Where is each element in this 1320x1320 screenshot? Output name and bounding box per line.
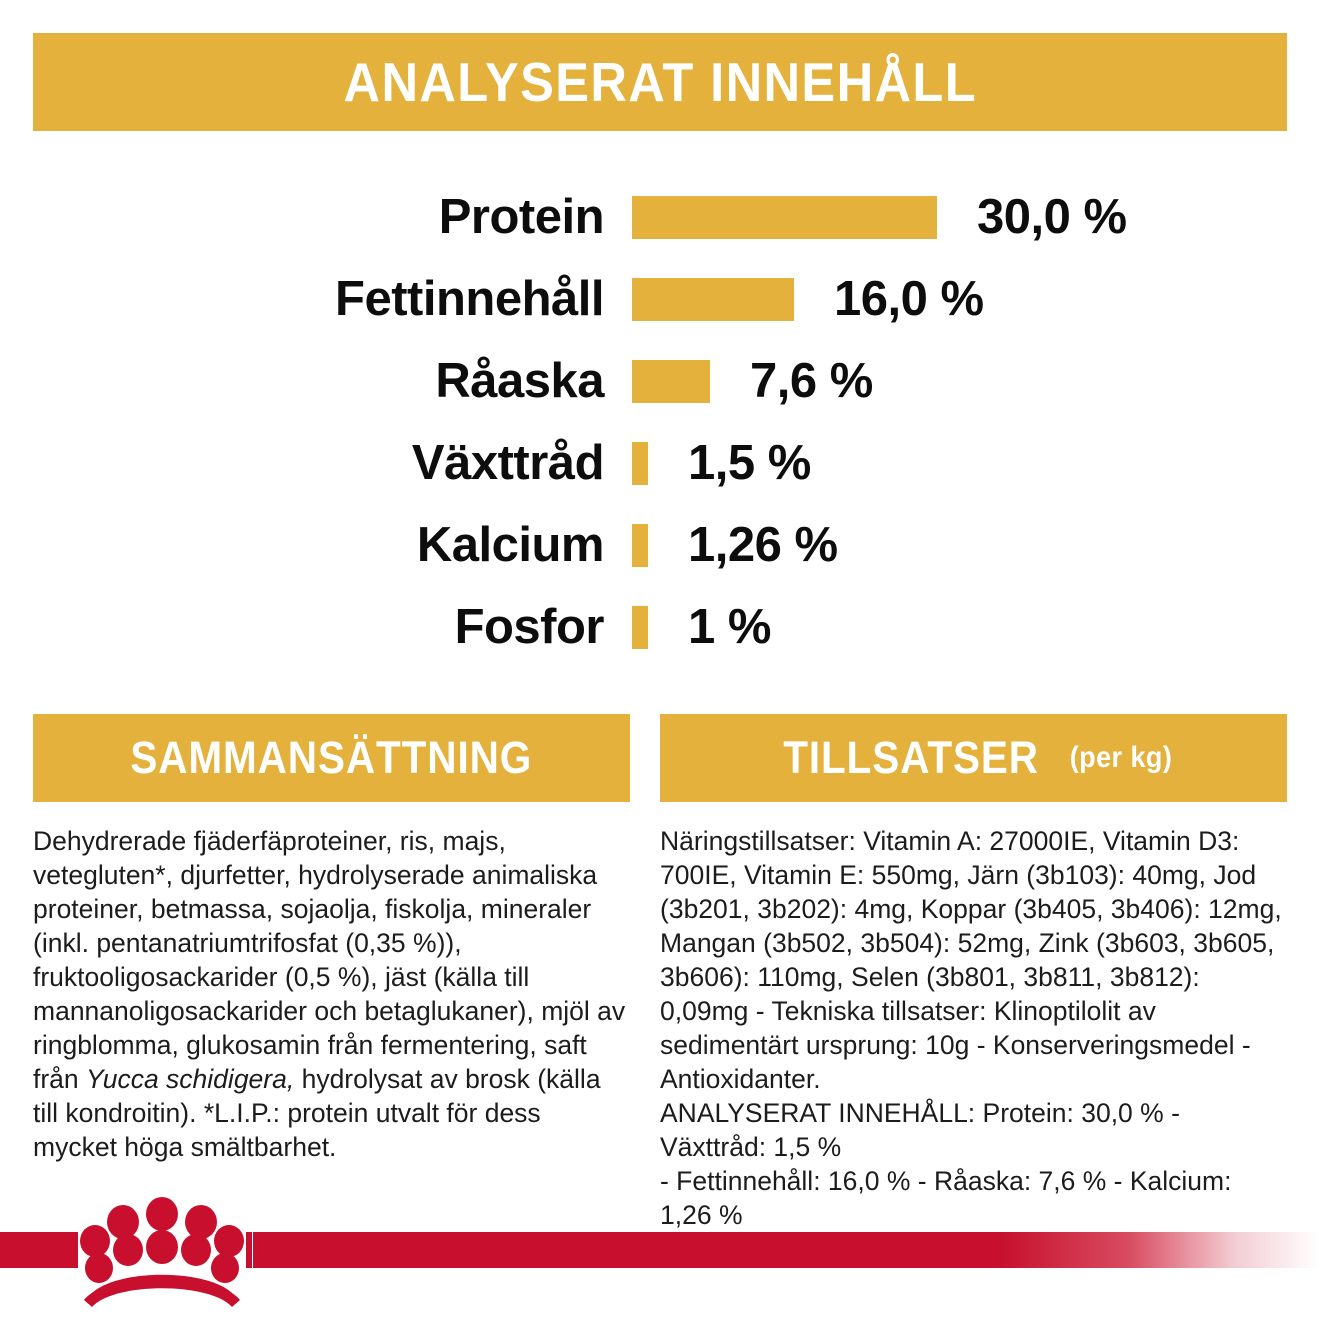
analysed-content-banner: ANALYSERAT INNEHÅLL [33, 33, 1287, 131]
crown-icon [78, 1192, 246, 1310]
composition-body: Dehydrerade fjäderfäproteiner, ris, majs… [33, 824, 630, 1164]
footer [0, 1182, 1320, 1320]
nutrient-value-fat: 16,0 % [834, 271, 984, 327]
composition-paragraph: Dehydrerade fjäderfäproteiner, ris, majs… [33, 824, 630, 1164]
nutrient-value-protein: 30,0 % [977, 189, 1127, 245]
nutrient-label-crude-fibre: Växttråd [0, 435, 632, 491]
table-row: Fosfor 1 % [0, 586, 1320, 668]
composition-text-italic: Yucca schidigera, [86, 1064, 294, 1094]
analysed-content-chart: Protein 30,0 % Fettinnehåll 16,0 % Råask… [0, 176, 1320, 668]
additives-analysis-line-1: ANALYSERAT INNEHÅLL: Protein: 30,0 % - V… [660, 1096, 1287, 1164]
bar-calcium [632, 524, 648, 567]
nutrient-label-phosphorus: Fosfor [0, 599, 632, 655]
table-row: Växttråd 1,5 % [0, 422, 1320, 504]
footer-rule-right [253, 1232, 1320, 1268]
composition-header: SAMMANSÄTTNING [33, 714, 630, 802]
bar-fat [632, 278, 794, 321]
additives-heading-sub: (per kg) [1069, 741, 1172, 775]
bar-phosphorus [632, 606, 648, 649]
nutrient-value-crude-ash: 7,6 % [750, 353, 873, 409]
nutrient-value-crude-fibre: 1,5 % [688, 435, 811, 491]
nutrient-label-calcium: Kalcium [0, 517, 632, 573]
table-row: Råaska 7,6 % [0, 340, 1320, 422]
composition-text-part-1: Dehydrerade fjäderfäproteiner, ris, majs… [33, 826, 625, 1094]
bar-crude-fibre [632, 442, 648, 485]
nutrient-value-phosphorus: 1 % [688, 599, 771, 655]
table-row: Protein 30,0 % [0, 176, 1320, 258]
table-row: Fettinnehåll 16,0 % [0, 258, 1320, 340]
nutrient-value-calcium: 1,26 % [688, 517, 838, 573]
composition-heading: SAMMANSÄTTNING [131, 732, 533, 784]
additives-paragraph: Näringstillsatser: Vitamin A: 27000IE, V… [660, 824, 1287, 1096]
table-row: Kalcium 1,26 % [0, 504, 1320, 586]
bar-crude-ash [632, 360, 710, 403]
nutrient-label-fat: Fettinnehåll [0, 271, 632, 327]
additives-heading: TILLSATSER [784, 732, 1040, 784]
additives-header: TILLSATSER (per kg) [660, 714, 1287, 802]
page-title: ANALYSERAT INNEHÅLL [343, 50, 976, 114]
nutrient-label-crude-ash: Råaska [0, 353, 632, 409]
nutrient-label-protein: Protein [0, 189, 632, 245]
bar-protein [632, 196, 937, 239]
